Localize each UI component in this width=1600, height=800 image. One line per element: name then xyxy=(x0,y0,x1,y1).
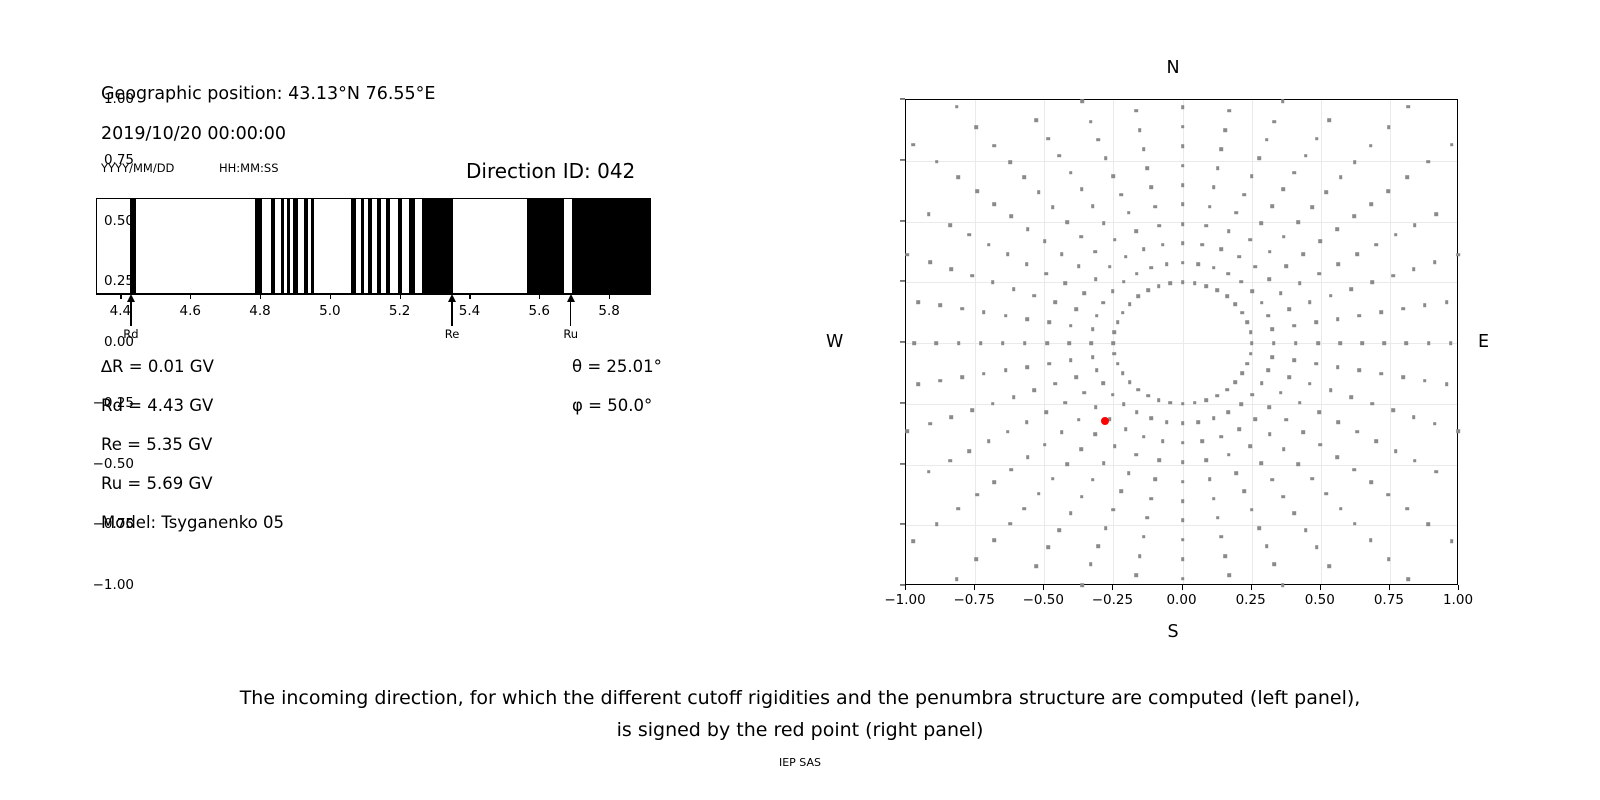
direction-point xyxy=(1124,427,1128,431)
direction-point xyxy=(1181,499,1185,503)
direction-point xyxy=(1033,294,1037,298)
direction-point xyxy=(1053,382,1057,386)
direction-point xyxy=(975,493,979,497)
direction-point xyxy=(1058,154,1062,158)
param-phi: φ = 50.0° xyxy=(572,396,652,415)
direction-point xyxy=(1181,242,1185,246)
direction-point xyxy=(1181,222,1185,226)
direction-point xyxy=(949,415,953,419)
direction-point xyxy=(1423,304,1427,308)
direction-point xyxy=(1318,443,1322,447)
direction-point xyxy=(1282,235,1286,239)
direction-point xyxy=(1142,248,1146,252)
direction-point xyxy=(1047,362,1051,366)
direction-point xyxy=(1108,265,1112,269)
axis-tick-label: 4.4 xyxy=(110,303,131,319)
direction-point xyxy=(1352,468,1356,472)
direction-point xyxy=(1435,212,1439,216)
direction-point xyxy=(1338,341,1342,345)
y-axis-tick xyxy=(900,402,905,403)
direction-point xyxy=(1074,307,1078,311)
direction-point xyxy=(1350,287,1354,291)
direction-point xyxy=(935,522,939,526)
direction-point xyxy=(1449,341,1453,345)
x-axis-tick xyxy=(974,585,975,590)
direction-point xyxy=(987,243,991,247)
direction-point xyxy=(1386,190,1390,194)
penumbra-band xyxy=(368,199,372,293)
direction-point xyxy=(1169,281,1173,285)
direction-point xyxy=(1089,563,1093,567)
direction-point xyxy=(1336,262,1340,266)
direction-point xyxy=(1146,394,1150,398)
direction-point xyxy=(1292,324,1296,328)
y-axis-tick-label: 0.50 xyxy=(104,213,134,229)
direction-point xyxy=(1257,526,1261,530)
direction-point xyxy=(1298,401,1302,405)
direction-point xyxy=(1053,300,1057,304)
direction-point xyxy=(1157,224,1161,228)
direction-point xyxy=(1146,516,1150,520)
direction-point xyxy=(1391,409,1395,413)
direction-point xyxy=(1220,147,1224,151)
direction-point xyxy=(1310,477,1314,481)
direction-point xyxy=(1142,147,1146,151)
direction-point xyxy=(1353,161,1357,165)
direction-point xyxy=(1089,120,1093,124)
direction-point xyxy=(1369,539,1373,543)
axis-tick-label: 5.4 xyxy=(459,303,480,319)
penumbra-band xyxy=(572,199,651,293)
direction-point xyxy=(956,507,960,511)
direction-point xyxy=(1157,284,1161,288)
direction-point xyxy=(1113,352,1117,356)
direction-point xyxy=(1353,522,1357,526)
direction-point xyxy=(1241,311,1245,315)
direction-point xyxy=(1215,394,1219,398)
direction-point xyxy=(1083,391,1087,395)
y-axis-tick xyxy=(900,220,905,221)
direction-point xyxy=(1318,240,1322,244)
direction-point xyxy=(912,143,916,147)
direction-point xyxy=(1394,449,1398,453)
direction-point xyxy=(1149,186,1153,190)
direction-point xyxy=(1242,193,1246,197)
rigidity-marker-label: Ru xyxy=(563,327,578,341)
x-axis-tick-label: 1.00 xyxy=(1443,592,1473,608)
direction-point xyxy=(1113,238,1117,242)
direction-point xyxy=(1296,220,1300,224)
direction-point xyxy=(1008,522,1012,526)
direction-point xyxy=(1227,229,1231,233)
direction-point xyxy=(1023,507,1027,511)
direction-point xyxy=(1033,389,1037,393)
direction-point xyxy=(938,379,942,383)
direction-point xyxy=(1102,461,1106,465)
direction-point xyxy=(1149,266,1153,270)
direction-point xyxy=(1450,143,1454,147)
direction-point xyxy=(1279,391,1283,395)
direction-point xyxy=(1358,314,1362,318)
direction-point xyxy=(1427,341,1431,345)
direction-point xyxy=(1225,388,1229,392)
direction-point xyxy=(1423,379,1427,383)
direction-point xyxy=(1234,380,1238,384)
y-axis-tick-label: −0.25 xyxy=(93,395,134,411)
x-axis-tick-label: 0.25 xyxy=(1236,592,1266,608)
direction-point xyxy=(1369,202,1373,206)
direction-point xyxy=(1037,492,1041,496)
direction-point xyxy=(960,375,964,379)
direction-point xyxy=(1375,243,1379,247)
axis-tick-label: 5.6 xyxy=(529,303,550,319)
y-axis-tick-label: −0.50 xyxy=(93,456,134,472)
direction-point xyxy=(1121,311,1125,315)
direction-point xyxy=(1287,307,1291,311)
x-axis-tick-label: 0.75 xyxy=(1374,592,1404,608)
direction-point xyxy=(1204,458,1208,462)
direction-point xyxy=(960,307,964,311)
direction-point xyxy=(1227,109,1231,113)
direction-point xyxy=(1308,382,1312,386)
direction-point xyxy=(1113,331,1117,335)
direction-point xyxy=(1413,459,1417,463)
direction-point xyxy=(1327,118,1331,122)
direction-point xyxy=(1242,490,1246,494)
direction-point xyxy=(1268,277,1272,281)
direction-point xyxy=(1157,398,1161,402)
direction-point xyxy=(1293,512,1297,516)
penumbra-band xyxy=(422,199,453,293)
direction-point xyxy=(1254,418,1258,422)
direction-point xyxy=(938,304,942,308)
y-axis-tick xyxy=(900,524,905,525)
geographic-position-label: Geographic position: 43.13°N 76.55°E xyxy=(101,84,436,104)
axis-tick xyxy=(260,294,261,299)
arrow-head-icon xyxy=(567,294,575,302)
direction-point xyxy=(1339,176,1343,180)
direction-point xyxy=(975,190,979,194)
direction-point xyxy=(1204,224,1208,228)
direction-point xyxy=(1044,272,1048,276)
y-axis-tick-label: 1.00 xyxy=(104,91,134,107)
direction-point xyxy=(1157,458,1161,462)
axis-tick-label: 5.0 xyxy=(319,303,340,319)
direction-point xyxy=(1127,211,1131,215)
direction-point xyxy=(1134,573,1138,577)
direction-point xyxy=(1111,393,1115,397)
penumbra-band xyxy=(255,199,262,293)
direction-point xyxy=(1212,186,1216,190)
direction-point xyxy=(1412,415,1416,419)
selected-direction-point xyxy=(1101,417,1109,425)
direction-point xyxy=(1146,289,1150,293)
direction-point xyxy=(1091,204,1095,208)
direction-point xyxy=(1037,190,1041,194)
direction-point xyxy=(1102,381,1106,385)
direction-point xyxy=(1315,545,1319,549)
direction-point xyxy=(1080,495,1084,499)
direction-point xyxy=(949,267,953,271)
direction-point xyxy=(1281,99,1285,103)
direction-point xyxy=(1208,478,1212,482)
gridline-horizontal xyxy=(906,465,1457,466)
penumbra-band xyxy=(287,199,290,293)
direction-point xyxy=(917,300,921,304)
direction-point xyxy=(1026,455,1030,459)
axis-tick xyxy=(539,294,540,299)
direction-point xyxy=(917,382,921,386)
direction-point xyxy=(1271,204,1275,208)
x-axis-tick-label: −0.75 xyxy=(953,592,994,608)
direction-point xyxy=(1301,252,1305,256)
direction-point xyxy=(1235,471,1239,475)
direction-point xyxy=(1063,282,1067,286)
direction-point xyxy=(1043,240,1047,244)
direction-point xyxy=(1271,327,1275,331)
direction-point xyxy=(1102,221,1106,225)
direction-point xyxy=(1379,310,1383,314)
direction-point xyxy=(1268,432,1272,436)
direction-point xyxy=(929,261,933,265)
direction-point xyxy=(948,459,952,463)
direction-point xyxy=(1387,125,1391,129)
direction-point xyxy=(1074,375,1078,379)
direction-point xyxy=(1080,99,1084,103)
x-axis-tick-label: 0.00 xyxy=(1166,592,1196,608)
direction-point xyxy=(1220,535,1224,539)
direction-point xyxy=(948,223,952,227)
direction-point xyxy=(1094,405,1098,409)
direction-point xyxy=(1433,261,1437,265)
direction-point xyxy=(1246,320,1250,324)
compass-north-label: N xyxy=(1166,58,1179,78)
direction-point xyxy=(1325,190,1329,194)
direction-point xyxy=(912,341,916,345)
penumbra-band xyxy=(361,199,365,293)
param-theta: θ = 25.01° xyxy=(572,357,662,376)
axis-tick xyxy=(190,294,191,299)
direction-point xyxy=(970,409,974,413)
axis-tick xyxy=(400,294,401,299)
axis-tick xyxy=(609,294,610,299)
direction-point xyxy=(1379,372,1383,376)
x-axis-tick xyxy=(1389,585,1390,590)
direction-point xyxy=(1080,583,1084,587)
direction-point xyxy=(1047,137,1051,141)
direction-point xyxy=(1239,280,1243,284)
direction-point xyxy=(1004,369,1008,373)
axis-tick xyxy=(469,294,470,299)
arrow-shaft xyxy=(570,300,571,326)
direction-point xyxy=(1254,265,1258,269)
direction-point xyxy=(1401,375,1405,379)
direction-point xyxy=(975,125,979,129)
x-axis-tick xyxy=(1043,585,1044,590)
y-axis-tick xyxy=(900,281,905,282)
penumbra-bands-container xyxy=(96,198,651,294)
direction-point xyxy=(1329,389,1333,393)
gridline-horizontal xyxy=(906,343,1457,344)
direction-point xyxy=(968,449,972,453)
x-axis-tick xyxy=(1320,585,1321,590)
direction-point xyxy=(1009,468,1013,472)
direction-point xyxy=(1104,526,1108,530)
direction-point xyxy=(1317,272,1321,276)
direction-point xyxy=(1248,444,1252,448)
gridline-vertical xyxy=(1321,100,1322,584)
direction-point xyxy=(1079,447,1083,451)
direction-point xyxy=(1234,302,1238,306)
direction-point xyxy=(1225,295,1229,299)
direction-point xyxy=(982,372,986,376)
direction-point xyxy=(1181,480,1185,484)
y-axis-tick xyxy=(900,98,905,99)
footer-label: IEP SAS xyxy=(779,756,821,769)
direction-point xyxy=(1265,544,1269,548)
direction-point xyxy=(1456,253,1460,257)
direction-point xyxy=(1060,252,1064,256)
arrow-shaft xyxy=(451,300,452,326)
direction-point xyxy=(1134,453,1138,457)
direction-point xyxy=(1394,233,1398,237)
direction-point xyxy=(1356,430,1360,434)
direction-point xyxy=(1104,156,1108,160)
axis-tick-label: 4.8 xyxy=(249,303,270,319)
direction-point xyxy=(1250,341,1254,345)
direction-point xyxy=(1250,175,1254,179)
direction-point xyxy=(1138,554,1142,558)
direction-point xyxy=(1219,435,1223,439)
direction-point xyxy=(1181,557,1185,561)
direction-point xyxy=(1249,352,1253,356)
direction-point xyxy=(1089,341,1093,345)
direction-point xyxy=(1296,462,1300,466)
direction-point xyxy=(1006,430,1010,434)
direction-point xyxy=(1095,314,1099,318)
direction-point xyxy=(1112,341,1116,345)
direction-point xyxy=(1445,382,1449,386)
direction-point xyxy=(1181,164,1185,168)
y-axis-tick xyxy=(900,463,905,464)
x-axis-tick xyxy=(905,585,906,590)
direction-point xyxy=(1406,578,1410,582)
direction-point xyxy=(1181,183,1185,187)
rigidity-marker-label: Re xyxy=(445,327,460,341)
direction-point xyxy=(1265,138,1269,142)
gridline-horizontal xyxy=(906,161,1457,162)
direction-point xyxy=(1298,282,1302,286)
direction-point xyxy=(1336,365,1340,369)
direction-point xyxy=(1181,538,1185,542)
direction-point xyxy=(1121,372,1125,376)
direction-point xyxy=(955,578,959,582)
direction-point xyxy=(1335,455,1339,459)
x-axis-tick xyxy=(1112,585,1113,590)
penumbra-band xyxy=(398,199,402,293)
axis-tick xyxy=(120,294,121,299)
direction-point xyxy=(1227,573,1231,577)
direction-point xyxy=(1124,255,1128,259)
direction-point xyxy=(1161,439,1165,443)
penumbra-chart xyxy=(96,198,651,294)
direction-point xyxy=(1401,307,1405,311)
axis-tick-label: 5.2 xyxy=(389,303,410,319)
direction-point xyxy=(1293,171,1297,175)
gridline-vertical xyxy=(975,100,976,584)
direction-point xyxy=(1008,161,1012,165)
direction-point xyxy=(1012,287,1016,291)
direction-point xyxy=(992,480,996,484)
direction-point xyxy=(1128,302,1132,306)
direction-point xyxy=(1223,554,1227,558)
direction-point xyxy=(991,281,995,285)
penumbra-band xyxy=(311,199,314,293)
direction-point xyxy=(1058,528,1062,532)
direction-point xyxy=(1406,105,1410,109)
direction-point xyxy=(1069,512,1073,516)
direction-point xyxy=(1181,125,1185,129)
direction-point xyxy=(1012,395,1016,399)
x-axis-tick xyxy=(1458,585,1459,590)
direction-point xyxy=(1294,341,1298,345)
direction-point xyxy=(1069,324,1073,328)
penumbra-band xyxy=(377,199,381,293)
direction-point xyxy=(1314,362,1318,366)
direction-point xyxy=(1181,402,1185,406)
plot-frame xyxy=(905,99,1458,585)
direction-point xyxy=(1216,516,1220,520)
direction-point xyxy=(1370,281,1374,285)
direction-point xyxy=(1001,341,1005,345)
direction-point xyxy=(1266,369,1270,373)
direction-id-label: Direction ID: 042 xyxy=(466,159,635,183)
direction-point xyxy=(1356,253,1360,257)
direction-point xyxy=(1282,188,1286,192)
direction-point xyxy=(1094,277,1098,281)
direction-point xyxy=(1136,388,1140,392)
direction-point xyxy=(1094,432,1098,436)
param-re: Re = 5.35 GV xyxy=(101,435,212,454)
direction-point xyxy=(927,470,931,474)
arrow-shaft xyxy=(130,300,131,326)
caption-line-1: The incoming direction, for which the di… xyxy=(240,687,1361,709)
direction-point xyxy=(1051,477,1055,481)
direction-point xyxy=(1023,341,1027,345)
direction-point xyxy=(1219,248,1223,252)
direction-point xyxy=(1004,314,1008,318)
direction-point xyxy=(1281,583,1285,587)
param-ru: Ru = 5.69 GV xyxy=(101,474,213,493)
direction-point xyxy=(1358,369,1362,373)
direction-point xyxy=(1301,430,1305,434)
direction-point xyxy=(935,341,939,345)
direction-point xyxy=(1237,255,1241,259)
direction-point xyxy=(1161,243,1165,247)
direction-point xyxy=(1284,418,1288,422)
direction-point xyxy=(1433,422,1437,426)
direction-point xyxy=(1181,203,1185,207)
direction-point xyxy=(1136,295,1140,299)
direction-point xyxy=(1181,441,1185,445)
direction-point xyxy=(1287,375,1291,379)
direction-point xyxy=(1325,492,1329,496)
direction-point xyxy=(1181,280,1185,284)
direction-point xyxy=(1169,401,1173,405)
direction-point xyxy=(992,144,996,148)
direction-point xyxy=(1310,205,1314,209)
direction-point xyxy=(1426,160,1430,164)
